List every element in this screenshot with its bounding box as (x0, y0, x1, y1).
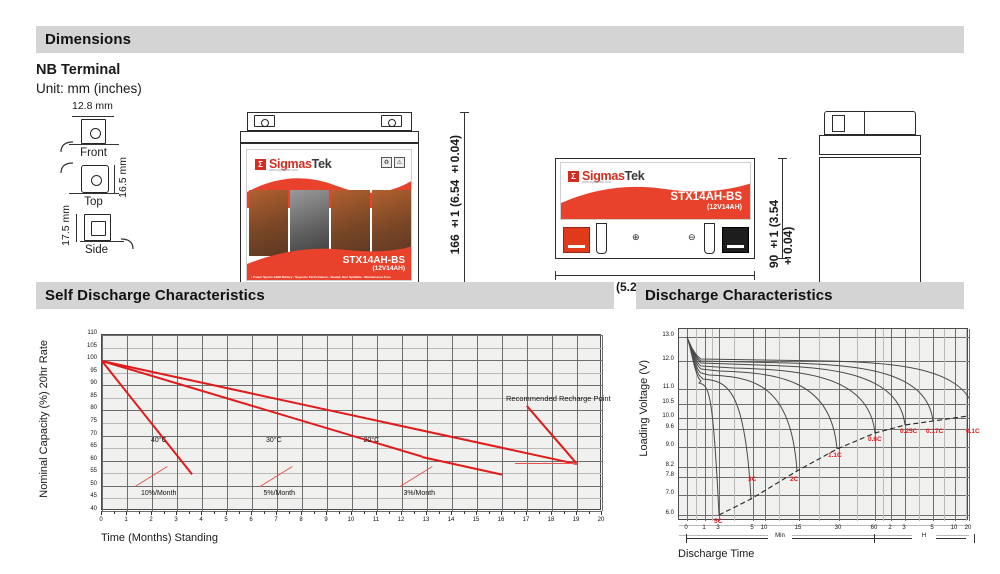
front-terminal-hole (90, 128, 101, 139)
recycle-icon: ♻ (381, 157, 392, 168)
dc-xtick: 10 (755, 525, 773, 531)
front-capacity-text: (12V14AH) (372, 265, 405, 272)
sd-tick-minor (139, 511, 140, 514)
sd-annotation: 20°C (364, 437, 380, 444)
side-vent-slot (832, 115, 845, 132)
top-view-label: Top (66, 196, 121, 208)
sd-annotation: 3%/Month (404, 490, 436, 497)
sd-ytick: 60 (77, 456, 97, 462)
sd-xtick: 9 (317, 517, 335, 523)
front-sticker-label: Σ SigmasTek www.sigmastek.com ♻ ⚠ (246, 149, 412, 281)
sd-annotation: 5%/Month (264, 490, 296, 497)
sd-gridline-v (552, 335, 553, 511)
sd-ytick: 90 (77, 380, 97, 386)
discharge-section: Discharge Characteristics (636, 282, 964, 309)
dimensions-body: NB Terminal Unit: mm (inches) 12.8 mm Fr… (36, 53, 964, 268)
sd-xtick: 20 (592, 517, 610, 523)
front-terminal-body (81, 119, 106, 144)
top-dim-arrow (114, 165, 115, 193)
dc-ytick: 7.8 (652, 472, 674, 478)
sd-gridline-h (102, 511, 602, 512)
dc-y-axis-title: Loading Voltage (V) (638, 360, 650, 457)
positive-terminal-slot (568, 245, 585, 248)
top-model-text: STX14AH-BS (670, 191, 742, 203)
dc-curve-label-0.6C: 0.6C (868, 436, 882, 443)
sd-tick-minor (364, 511, 365, 514)
dc-ytick: 10.5 (652, 399, 674, 405)
side-view-label: Side (69, 244, 124, 256)
height-dim-line (464, 112, 465, 291)
sd-xtick: 14 (442, 517, 460, 523)
sd-x-axis-title: Time (Months) Standing (101, 532, 218, 544)
sd-tick (551, 511, 552, 515)
sd-gridline-v (602, 335, 603, 511)
height-dim-cap-top (460, 112, 469, 113)
section-header-discharge: Discharge Characteristics (636, 282, 964, 309)
sd-tick-minor (539, 511, 540, 514)
sd-gridline-v (302, 335, 303, 511)
sd-xtick: 8 (292, 517, 310, 523)
sd-ytick: 85 (77, 393, 97, 399)
sd-leader-1 (259, 466, 292, 487)
positive-terminal-block (563, 227, 590, 253)
sd-xtick: 5 (217, 517, 235, 523)
brand-mark-icon: Σ (255, 159, 266, 170)
top-dim-text: 16.5 mm (117, 157, 129, 198)
sd-tick-minor (239, 511, 240, 514)
front-terminal-left (254, 115, 275, 127)
dc-ytick: 10.0 (652, 413, 674, 419)
sd-gridline-v (377, 335, 378, 511)
sd-gridline-v (327, 335, 328, 511)
sd-xtick: 4 (192, 517, 210, 523)
negative-polarity-icon: ⊖ (688, 232, 696, 243)
sd-xtick: 11 (367, 517, 385, 523)
dc-segment-cap (974, 534, 975, 543)
sd-ytick: 105 (77, 343, 97, 349)
sd-leader-0 (134, 466, 167, 487)
dc-curve-2C (687, 337, 797, 471)
sd-xtick: 3 (167, 517, 185, 523)
top-capacity-text: (12V14AH) (707, 204, 742, 211)
dc-curve-0.25C (687, 337, 905, 425)
width-dim-cap-left (555, 271, 556, 280)
sd-tick-minor (289, 511, 290, 514)
top-base-curve (60, 162, 74, 174)
front-base-line (69, 144, 119, 145)
side-dim-arrow (76, 214, 77, 242)
self-discharge-section: Self Discharge Characteristics (36, 282, 614, 309)
side-dim-text: 17.5 mm (60, 205, 72, 246)
sd-tick (326, 511, 327, 515)
sd-y-axis-title: Nominal Capacity (%) 20hr Rate (38, 340, 50, 498)
sd-tick-minor (189, 511, 190, 514)
top-terminal-body (81, 165, 109, 193)
sd-tick (526, 511, 527, 515)
sd-xtick: 6 (242, 517, 260, 523)
negative-terminal-slot (727, 245, 744, 248)
sd-gridline-v (227, 335, 228, 511)
sd-annotation: 10%/Month (141, 490, 176, 497)
sd-gridline-v (352, 335, 353, 511)
sd-tick (376, 511, 377, 515)
sd-ytick: 55 (77, 468, 97, 474)
dc-ytick: 11.0 (652, 384, 674, 390)
front-view-label: Front (66, 147, 121, 159)
sd-tick (176, 511, 177, 515)
unit-note: Unit: mm (inches) (36, 81, 142, 96)
sd-tick (251, 511, 252, 515)
sd-gridline-v (127, 335, 128, 511)
dc-plot-area (678, 328, 968, 520)
dc-curve-0.6C (687, 337, 875, 433)
sd-tick (151, 511, 152, 515)
sd-gridline-v (502, 335, 503, 511)
self-discharge-chart: Nominal Capacity (%) 20hr Rate Time (Mon… (36, 320, 614, 570)
dc-curve-label-5C: 5C (714, 518, 722, 525)
sd-tick (226, 511, 227, 515)
discharge-chart: Loading Voltage (V) Discharge Time 6.07.… (636, 320, 964, 574)
front-tagline: • Power Sports AGM Battery • Superior Pe… (251, 275, 391, 279)
sd-xtick: 10 (342, 517, 360, 523)
sd-ytick: 70 (77, 431, 97, 437)
dc-x-axis-title: Discharge Time (678, 548, 754, 560)
sd-tick (601, 511, 602, 515)
dc-ytick: 12.0 (652, 356, 674, 362)
dc-segment-cap (686, 534, 687, 543)
dc-ytick: 13.0 (652, 332, 674, 338)
depth-dim-text: 90 ±1 (3.54 ±0.04) (767, 157, 795, 268)
dc-segment-label-Min: Min (768, 533, 792, 539)
dc-segment-label-H: H (912, 533, 936, 539)
dc-xtick: 3 (895, 525, 913, 531)
sd-xtick: 7 (267, 517, 285, 523)
top-terminal-hole (91, 175, 102, 186)
side-collar (819, 135, 921, 155)
sd-ytick: 95 (77, 368, 97, 374)
sd-ytick: 75 (77, 418, 97, 424)
height-dim-text: 166 ±1 (6.54 ±0.04) (448, 135, 462, 254)
positive-post (596, 223, 607, 254)
positive-polarity-icon: ⊕ (632, 232, 640, 243)
dc-curve-label-0.17C: 0.17C (926, 428, 943, 435)
sd-gridline-v (577, 335, 578, 511)
negative-post (704, 223, 715, 254)
top-sticker-label: Σ SigmasTek www.sigmastek.com STX14AH-BS… (560, 162, 751, 220)
sd-tick-minor (314, 511, 315, 514)
sd-tick-minor (214, 511, 215, 514)
sd-xtick: 15 (467, 517, 485, 523)
dc-curve-label-3C: 3C (748, 476, 756, 483)
sd-ytick: 100 (77, 355, 97, 361)
sd-tick-minor (489, 511, 490, 514)
sd-xtick: 17 (517, 517, 535, 523)
sd-tick (501, 511, 502, 515)
front-cap-collar (240, 131, 419, 143)
sd-ytick: 110 (77, 330, 97, 336)
sd-xtick: 16 (492, 517, 510, 523)
dc-curve-0.17C (687, 337, 933, 421)
sd-tick (401, 511, 402, 515)
dc-xtick: 3 (709, 525, 727, 531)
side-base-line (80, 241, 124, 242)
sd-gridline-v (452, 335, 453, 511)
dc-curve-group (679, 329, 969, 521)
sd-gridline-v (427, 335, 428, 511)
dimensions-section: Dimensions NB Terminal Unit: mm (inches)… (36, 26, 964, 268)
sd-ytick: 45 (77, 493, 97, 499)
eco-icon-group: ♻ ⚠ (381, 157, 405, 168)
sd-tick-minor (264, 511, 265, 514)
sd-xtick: 0 (92, 517, 110, 523)
dc-ytick: 9.0 (652, 442, 674, 448)
sd-tick (276, 511, 277, 515)
sd-tick-minor (464, 511, 465, 514)
sd-ytick: 65 (77, 443, 97, 449)
sd-tick-minor (164, 511, 165, 514)
sd-tick-minor (339, 511, 340, 514)
sd-xtick: 13 (417, 517, 435, 523)
dc-curve-1.1C (687, 337, 837, 449)
section-header-self-discharge: Self Discharge Characteristics (36, 282, 614, 309)
sd-gridline-v (202, 335, 203, 511)
sd-gridline-v (177, 335, 178, 511)
sd-tick-minor (589, 511, 590, 514)
width-dim-line (555, 275, 755, 276)
dc-xtick: 5 (923, 525, 941, 531)
sd-ytick: 80 (77, 405, 97, 411)
warning-icon: ⚠ (394, 157, 405, 168)
dc-segment-cap (874, 534, 875, 543)
sd-tick-minor (414, 511, 415, 514)
sd-tick (351, 511, 352, 515)
side-terminal-inner (91, 221, 106, 236)
dc-xtick: 30 (829, 525, 847, 531)
sd-ytick: 50 (77, 481, 97, 487)
sd-gridline-v (277, 335, 278, 511)
dc-xtick: 20 (959, 525, 977, 531)
dc-gridline-v (969, 329, 970, 521)
sd-tick (476, 511, 477, 515)
dc-curve-label-2C: 2C (790, 476, 798, 483)
sd-recharge-hline (515, 463, 578, 464)
sd-series-line-30°C (422, 456, 502, 475)
sd-xtick: 18 (542, 517, 560, 523)
sd-tick (301, 511, 302, 515)
front-dim-text: 12.8 mm (72, 100, 113, 112)
dc-ytick: 7.0 (652, 490, 674, 496)
terminal-type-label: NB Terminal (36, 62, 120, 78)
side-terminal-body (84, 214, 111, 241)
dc-ytick: 6.0 (652, 510, 674, 516)
dc-ytick: 9.6 (652, 424, 674, 430)
sd-xtick: 2 (142, 517, 160, 523)
sd-tick (126, 511, 127, 515)
dc-curve-label-1.1C: 1.1C (828, 452, 842, 459)
negative-terminal-block (722, 227, 749, 253)
front-terminal-right-hole (388, 119, 396, 127)
sd-tick-minor (514, 511, 515, 514)
sd-gridline-v (527, 335, 528, 511)
sd-tick-minor (564, 511, 565, 514)
sd-tick (451, 511, 452, 515)
section-header-dimensions: Dimensions (36, 26, 964, 53)
sd-xtick: 19 (567, 517, 585, 523)
sd-tick (576, 511, 577, 515)
side-case-body (819, 157, 921, 291)
sd-tick-minor (114, 511, 115, 514)
top-base-line (69, 193, 119, 194)
sd-annotation: 30°C (266, 437, 282, 444)
dc-curve-label-0.1C: 0.1C (966, 428, 980, 435)
dc-curve-0.1C (687, 337, 969, 415)
front-terminal-right (381, 115, 402, 127)
sd-gridline-v (477, 335, 478, 511)
sd-tick (426, 511, 427, 515)
sd-tick (101, 511, 102, 515)
sd-gridline-v (252, 335, 253, 511)
side-cap-divider (864, 111, 865, 135)
dc-xtick: 0 (677, 525, 695, 531)
sd-tick-minor (389, 511, 390, 514)
width-dim-cap-right (754, 271, 755, 280)
dc-ytick: 8.2 (652, 462, 674, 468)
sd-annotation: Recommended Recharge Point (506, 394, 611, 403)
sd-tick (201, 511, 202, 515)
sd-plot-area (101, 334, 601, 510)
front-dim-arrow (72, 116, 114, 117)
sd-annotation: 40°C (151, 437, 167, 444)
front-terminal-left-hole (261, 119, 269, 127)
sd-tick-minor (439, 511, 440, 514)
dc-xtick: 15 (789, 525, 807, 531)
dc-curve-label-0.25C: 0.25C (900, 428, 917, 435)
sd-ytick: 40 (77, 506, 97, 512)
sd-xtick: 1 (117, 517, 135, 523)
sd-xtick: 12 (392, 517, 410, 523)
